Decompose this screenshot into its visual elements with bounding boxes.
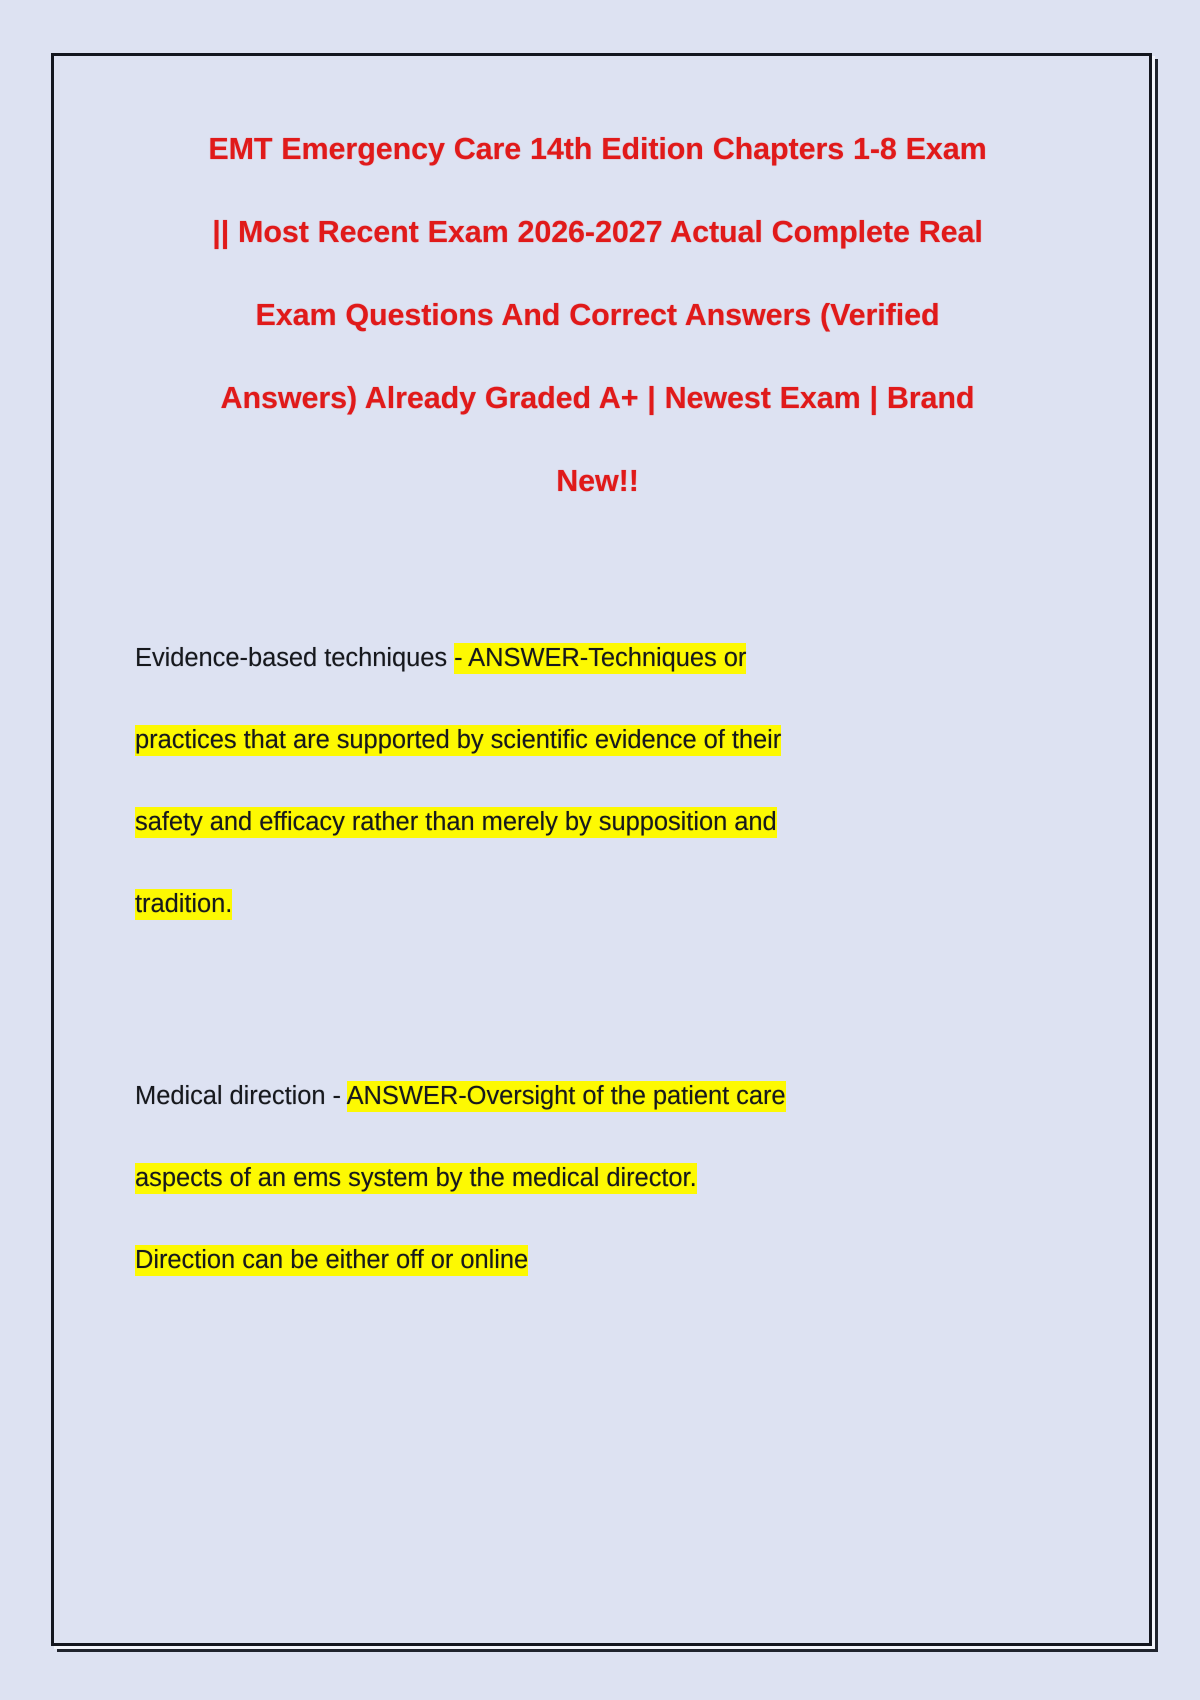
answer-highlight: Direction can be either off or online xyxy=(135,1245,528,1276)
qa-block: Medical direction - ANSWER-Oversight of … xyxy=(135,1055,1077,1301)
page-title: EMT Emergency Care 14th Edition Chapters… xyxy=(132,108,1077,523)
answer-highlight: tradition. xyxy=(135,889,232,920)
title-line-4: Answers) Already Graded A+ | Newest Exam… xyxy=(221,381,975,415)
question-term: Evidence-based techniques xyxy=(135,644,454,672)
title-line-3: Exam Questions And Correct Answers (Veri… xyxy=(256,298,940,332)
page-content-area: EMT Emergency Care 14th Edition Chapters… xyxy=(54,56,1149,1643)
qa-line: Medical direction - ANSWER-Oversight of … xyxy=(135,1055,1077,1137)
qa-line: aspects of an ems system by the medical … xyxy=(135,1137,1077,1219)
qa-line: Direction can be either off or online xyxy=(135,1219,1077,1301)
answer-highlight: ANSWER-Oversight of the patient care xyxy=(347,1081,786,1112)
qa-line: practices that are supported by scientif… xyxy=(135,699,1077,781)
qa-line: safety and efficacy rather than merely b… xyxy=(135,781,1077,863)
answer-highlight: safety and efficacy rather than merely b… xyxy=(135,807,777,838)
qa-line: tradition. xyxy=(135,863,1077,945)
answer-highlight: aspects of an ems system by the medical … xyxy=(135,1163,697,1194)
document-page: EMT Emergency Care 14th Edition Chapters… xyxy=(51,53,1152,1646)
title-line-1: EMT Emergency Care 14th Edition Chapters… xyxy=(208,132,986,166)
qa-block: Evidence-based techniques - ANSWER-Techn… xyxy=(135,617,1077,945)
qa-line: Evidence-based techniques - ANSWER-Techn… xyxy=(135,617,1077,699)
question-term: Medical direction - xyxy=(135,1082,347,1110)
question-answer-list: Evidence-based techniques - ANSWER-Techn… xyxy=(132,617,1077,1301)
title-line-2: || Most Recent Exam 2026-2027 Actual Com… xyxy=(212,215,982,249)
answer-highlight: practices that are supported by scientif… xyxy=(135,725,781,756)
answer-highlight: - ANSWER-Techniques or xyxy=(454,643,746,674)
title-line-5: New!! xyxy=(556,464,639,498)
